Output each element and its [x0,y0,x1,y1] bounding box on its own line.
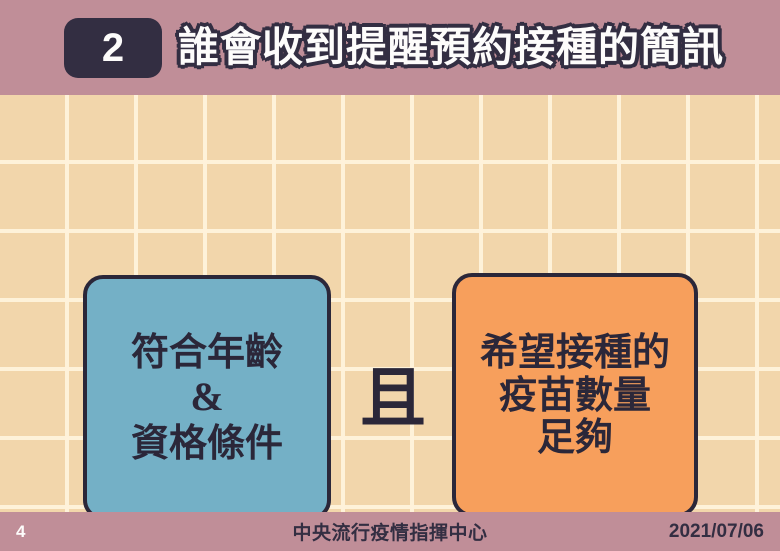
footer-date-label: 2021/07/06 [644,521,764,543]
condition-box-age-and-eligibility: 符合年齡 & 資格條件 [83,275,331,520]
condition-line-desired-vaccination: 希望接種的 [480,331,670,374]
condition-line-eligibility: 資格條件 [131,422,283,465]
condition-line-vaccine-quantity: 疫苗數量 [499,374,651,417]
conjunction-and-label: 且 [355,357,431,441]
page-title: 誰會收到提醒預約接種的簡訊 [178,27,724,68]
slide-body: 符合年齡 & 資格條件 且 希望接種的 疫苗數量 足夠 [0,95,780,512]
condition-line-ampersand: & [190,375,223,420]
slide-canvas: 2 誰會收到提醒預約接種的簡訊 符合年齡 & 資格條件 且 希望接種的 疫苗數量… [0,0,780,551]
condition-line-age: 符合年齡 [131,331,283,374]
condition-line-sufficient: 足夠 [537,416,613,459]
footer-page-number: 4 [16,522,136,542]
section-number-badge: 2 [64,18,162,78]
slide-header: 2 誰會收到提醒預約接種的簡訊 [0,0,780,95]
section-number-label: 2 [102,28,124,68]
condition-box-sufficient-vaccine-supply: 希望接種的 疫苗數量 足夠 [452,273,698,517]
footer-organization-label: 中央流行疫情指揮中心 [136,518,644,545]
slide-footer: 4 中央流行疫情指揮中心 2021/07/06 [0,512,780,551]
